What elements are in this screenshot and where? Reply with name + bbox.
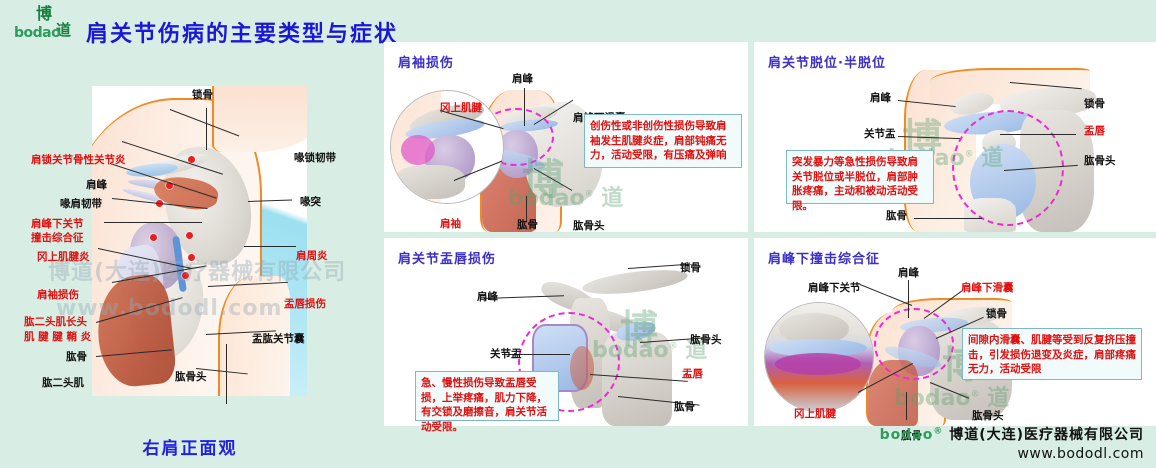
magnified-inset-circle xyxy=(764,302,874,412)
footer: bodao® 博道(大连)医疗器械有限公司 www.bododl.com xyxy=(880,424,1144,462)
footer-brand: bodao xyxy=(880,427,934,443)
label-humerus: 肱骨 xyxy=(886,210,907,222)
label-biceps-long-head-l2: 肌 腱 腱 鞘 炎 xyxy=(24,331,91,343)
label-glenohumeral-capsule: 盂肱关节囊 xyxy=(252,333,305,345)
label-acromion: 肩峰 xyxy=(512,73,533,85)
label-glenoid: 关节盂 xyxy=(490,348,522,360)
leader-line xyxy=(908,280,909,318)
label-humeral-head: 肱骨头 xyxy=(972,410,1004,422)
label-clavicle: 锁骨 xyxy=(1084,98,1105,110)
logo-wordmark: bodao xyxy=(14,25,60,41)
label-labrum: 盂唇 xyxy=(682,368,703,380)
logo-cn-bo: 博 xyxy=(36,6,51,22)
label-impingement-l1: 肩峰下关节 xyxy=(31,218,84,230)
label-subacromial-joint: 肩峰下关节 xyxy=(808,282,861,294)
label-subacromial-bursa: 肩峰下滑囊 xyxy=(961,282,1014,294)
footer-website: www.bododl.com xyxy=(880,446,1144,462)
label-supraspinatus-tendon: 冈上肌腱 xyxy=(794,408,836,420)
leader-line xyxy=(206,108,207,150)
label-acromion: 肩峰 xyxy=(870,92,891,104)
panel-callout: 突发暴力等急性损伤导致肩关节脱位或半脱位，肩部肿胀疼痛，主动和被动活动受限。 xyxy=(786,150,934,204)
left-anatomy-diagram: 博道(大连)医疗器械有限公司 www.bododl.com 肩锁关节骨性关节炎 … xyxy=(0,46,380,468)
label-coracoclavicular-ligament: 喙锁韧带 xyxy=(294,152,336,164)
label-humeral-head: 肱骨头 xyxy=(1084,155,1116,167)
neck-shape xyxy=(212,86,307,152)
label-frozen-shoulder: 肩周炎 xyxy=(296,250,328,262)
bodao-logo: 博 道 bodao xyxy=(14,6,76,44)
label-humerus: 肱骨 xyxy=(674,401,695,413)
label-glenoid: 关节盂 xyxy=(864,128,896,140)
panel-callout: 间隙内滑囊、肌腱等受到反复挤压撞击，引发损伤退变及炎症，肩部疼痛无力，活动受限 xyxy=(962,328,1142,380)
panel-labrum-injury: 肩关节盂唇损伤 博 bodao® 道 锁骨 xyxy=(384,238,748,426)
poster-root: 博 道 bodao 肩关节伤病的主要类型与症状 xyxy=(0,0,1156,468)
label-supraspinatus-tendinitis: 冈上肌腱炎 xyxy=(37,251,90,263)
label-humeral-head: 肱骨头 xyxy=(690,334,722,346)
page-title: 肩关节伤病的主要类型与症状 xyxy=(86,16,398,48)
leader-line xyxy=(906,392,907,420)
leader-line xyxy=(104,222,202,223)
panel-subacromial-impingement: 肩峰下撞击综合征 博 bodao® 道 xyxy=(754,238,1156,426)
panel-shoulder-dislocation: 肩关节脱位·半脱位 博 bodao® 道 xyxy=(754,42,1156,232)
label-coracoid-process: 喙突 xyxy=(300,196,321,208)
label-humeral-head: 肱骨头 xyxy=(573,220,605,232)
label-humeral-head-left: 肱骨头 xyxy=(175,371,207,383)
leader-line xyxy=(524,88,525,126)
panel-callout: 急、慢性损伤导致盂唇受损，上举疼痛，肌力下降，有交锁及磨擦音，肩关节活动受限。 xyxy=(415,371,559,421)
leader-line xyxy=(914,218,982,219)
footer-company-name: 博道(大连)医疗器械有限公司 xyxy=(949,427,1144,443)
marker-dot xyxy=(186,232,193,239)
label-ac-joint-arthritis: 肩锁关节骨性关节炎 xyxy=(31,154,126,166)
label-humerus: 肱骨 xyxy=(517,219,538,231)
leader-line xyxy=(1000,134,1076,135)
label-coracoacromial-ligament: 喙肩韧带 xyxy=(60,198,102,210)
footer-company-line: bodao® 博道(大连)医疗器械有限公司 xyxy=(880,424,1144,444)
label-biceps-muscle: 肱二头肌 xyxy=(42,377,84,389)
label-impingement-l2: 撞击综合征 xyxy=(31,232,84,244)
label-clavicle: 锁骨 xyxy=(986,308,1007,320)
label-acromion: 肩峰 xyxy=(477,291,498,303)
panel-callout: 创伤性或非创伤性损伤导致肩袖发生肌腱炎症，肩部钝痛无力，活动受限，有压痛及弹响 xyxy=(584,114,742,168)
label-humerus-left: 肱骨 xyxy=(66,351,87,363)
panel-rotator-cuff-injury: 肩袖损伤 博 bodao® 道 xyxy=(384,42,748,232)
watermark-wordmark: bodao® 道 xyxy=(894,380,1009,412)
label-biceps-long-head-l1: 肱二头肌长头 xyxy=(24,316,87,328)
label-clavicle: 锁骨 xyxy=(680,262,701,274)
leader-line xyxy=(244,246,296,247)
left-diagram-caption: 右肩正面观 xyxy=(0,434,380,459)
clavicle-shape xyxy=(581,266,689,299)
label-labrum: 盂唇 xyxy=(1084,125,1105,137)
label-acromion: 肩峰 xyxy=(898,267,919,279)
label-rotator-cuff-injury: 肩袖损伤 xyxy=(37,289,79,301)
left-anatomy-artwork xyxy=(92,86,307,396)
leader-line xyxy=(226,344,227,404)
label-supraspinatus-tendon: 冈上肌腱 xyxy=(440,102,482,114)
marker-dot xyxy=(150,234,157,241)
label-clavicle-left: 锁骨 xyxy=(192,89,213,101)
panel-grid: 肩袖损伤 博 bodao® 道 xyxy=(384,42,1156,426)
label-labrum-injury-left: 盂唇损伤 xyxy=(284,298,326,310)
label-rotator-cuff: 肩袖 xyxy=(440,218,461,230)
label-acromion: 肩峰 xyxy=(86,179,107,191)
registered-mark: ® xyxy=(933,426,943,436)
header: 博 道 bodao 肩关节伤病的主要类型与症状 xyxy=(0,0,1156,46)
